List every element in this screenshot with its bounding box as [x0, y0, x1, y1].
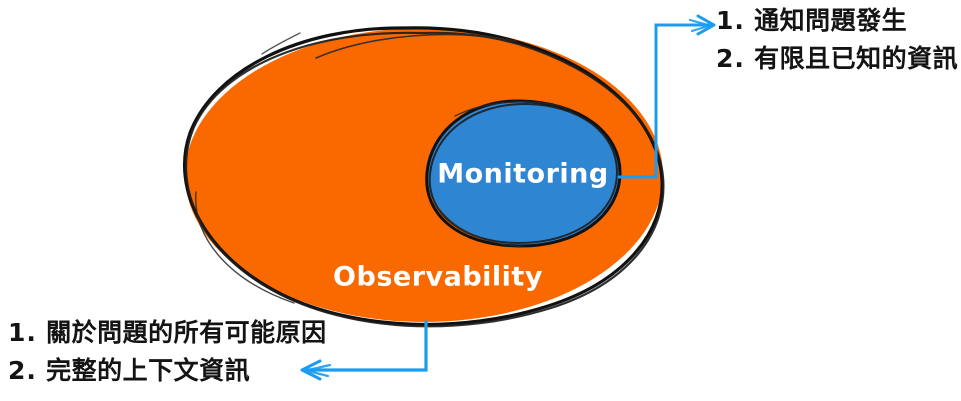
monitoring-label: Monitoring	[437, 159, 608, 190]
monitoring-callout: 1. 通知問題發生 2. 有限且已知的資訊	[716, 8, 958, 71]
observability-callout-item-1-number: 1.	[8, 318, 37, 347]
monitoring-callout-item-1-text: 通知問題發生	[754, 6, 907, 35]
observability-callout: 1. 關於問題的所有可能原因 2. 完整的上下文資訊	[8, 320, 327, 383]
observability-callout-item-1: 1. 關於問題的所有可能原因	[8, 320, 327, 345]
observability-callout-item-1-text: 關於問題的所有可能原因	[46, 318, 327, 347]
observability-callout-item-2-number: 2.	[8, 356, 37, 385]
observability-label: Observability	[333, 262, 543, 293]
monitoring-callout-item-2: 2. 有限且已知的資訊	[716, 46, 958, 71]
monitoring-callout-item-1: 1. 通知問題發生	[716, 8, 958, 33]
monitoring-callout-item-1-number: 1.	[716, 6, 745, 35]
diagram-canvas: Monitoring Observability 1. 通知問題發生 2. 有限…	[0, 0, 961, 401]
monitoring-callout-item-2-number: 2.	[716, 44, 745, 73]
observability-callout-item-2-text: 完整的上下文資訊	[46, 356, 250, 385]
observability-callout-item-2: 2. 完整的上下文資訊	[8, 358, 327, 383]
monitoring-callout-item-2-text: 有限且已知的資訊	[754, 44, 958, 73]
